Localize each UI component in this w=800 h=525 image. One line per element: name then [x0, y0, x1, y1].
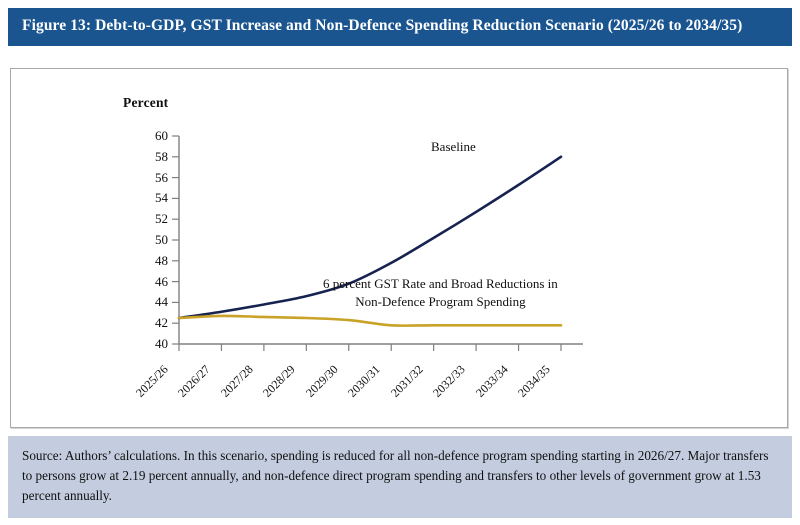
- series-annotation-scenario-line1: 6 percent GST Rate and Broad Reductions …: [323, 276, 558, 291]
- y-axis-tick-label: 40: [132, 336, 168, 352]
- y-axis-tick-label: 60: [132, 128, 168, 144]
- series-annotation-baseline: Baseline: [431, 139, 476, 155]
- source-note: Source: Authors’ calculations. In this s…: [8, 436, 792, 518]
- y-axis-tick-label: 54: [132, 190, 168, 206]
- y-axis-tick-label: 44: [132, 294, 168, 310]
- y-axis-tick-label: 50: [132, 232, 168, 248]
- line-chart-svg: [11, 69, 789, 429]
- y-axis-tick-label: 56: [132, 170, 168, 186]
- figure-container: Figure 13: Debt-to-GDP, GST Increase and…: [0, 0, 800, 525]
- series-annotation-scenario: 6 percent GST Rate and Broad Reductions …: [323, 275, 558, 310]
- series-line-gst-scenario: [179, 316, 561, 326]
- y-axis-tick-label: 46: [132, 274, 168, 290]
- y-axis-tick-label: 48: [132, 253, 168, 269]
- chart-panel: Percent 60585654525048464442402025/26202…: [10, 68, 788, 428]
- figure-title: Figure 13: Debt-to-GDP, GST Increase and…: [8, 8, 792, 46]
- y-axis-tick-label: 52: [132, 211, 168, 227]
- series-annotation-scenario-line2: Non-Defence Program Spending: [323, 293, 558, 311]
- y-axis-tick-label: 42: [132, 315, 168, 331]
- plot-area: 60585654525048464442402025/262026/272027…: [11, 69, 789, 429]
- y-axis-tick-label: 58: [132, 149, 168, 165]
